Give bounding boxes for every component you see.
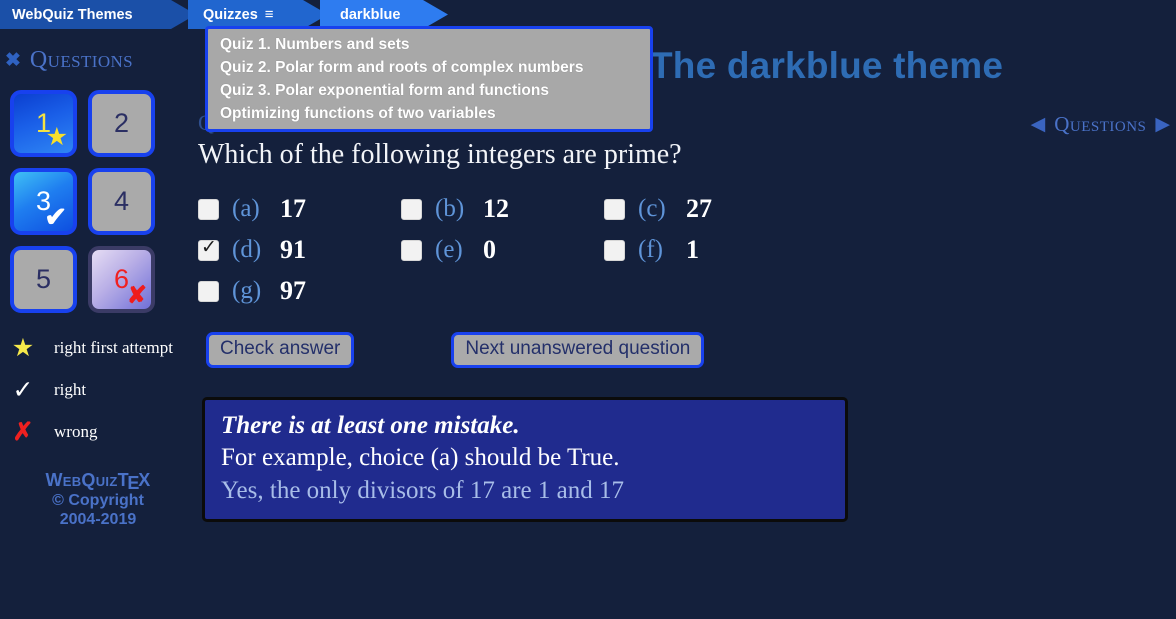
quiz-page: WebQuiz Themes Quizzes ≡ darkblue The da… (0, 0, 1176, 619)
legend-label: right (54, 377, 86, 400)
breadcrumb-label: Quizzes (203, 7, 258, 23)
choice-e[interactable]: (e) 0 (401, 235, 604, 265)
breadcrumb: WebQuiz Themes Quizzes ≡ darkblue (0, 0, 1176, 29)
choice-value: 91 (280, 235, 306, 265)
choice-b[interactable]: (b) 12 (401, 194, 604, 224)
question-button-number: 2 (114, 108, 129, 139)
cross-icon: ✘ (127, 284, 147, 308)
choice-letter: (e) (435, 236, 483, 264)
choice-letter: (b) (435, 195, 483, 223)
copyright-line: © Copyright (0, 491, 196, 510)
question-button-number: 4 (114, 186, 129, 217)
sidebar-header: ✖ Questions (0, 42, 196, 78)
sidebar: ✖ Questions 1 ★ 2 3 ✔ 4 5 6 ✘ (0, 42, 196, 529)
choice-letter: (a) (232, 195, 280, 223)
choice-value: 97 (280, 276, 306, 306)
questions-navigation: ◀ Questions ▶ (1031, 112, 1170, 137)
quiz-menu-item[interactable]: Quiz 2. Polar form and roots of complex … (208, 56, 650, 79)
choice-value: 27 (686, 194, 712, 224)
choice-letter: (c) (638, 195, 686, 223)
breadcrumb-item-webquiz-themes[interactable]: WebQuiz Themes (0, 0, 196, 29)
checkbox-d[interactable] (198, 240, 219, 261)
answer-choices: (a) 17 (b) 12 (c) 27 (d) 91 (198, 194, 808, 306)
question-button-number: 5 (36, 264, 51, 295)
question-button-grid: 1 ★ 2 3 ✔ 4 5 6 ✘ (10, 90, 170, 313)
choice-g[interactable]: (g) 97 (198, 276, 401, 306)
choice-row: (g) 97 (198, 276, 808, 306)
question-button-4[interactable]: 4 (88, 168, 155, 235)
action-buttons: Check answer Next unanswered question (198, 332, 1176, 368)
feedback-box: There is at least one mistake. For examp… (202, 397, 848, 522)
feedback-explanation: Yes, the only divisors of 17 are 1 and 1… (221, 474, 829, 507)
check-icon: ✔ (44, 204, 67, 231)
choice-value: 17 (280, 194, 306, 224)
legend-label: wrong (54, 419, 97, 442)
brand-tex-x: X (138, 470, 150, 490)
close-icon[interactable]: ✖ (5, 51, 21, 70)
quiz-menu-item[interactable]: Optimizing functions of two variables (208, 102, 650, 125)
quiz-dropdown-menu[interactable]: Quiz 1. Numbers and sets Quiz 2. Polar f… (205, 26, 653, 132)
legend-row-right: ✓ right (8, 377, 193, 403)
breadcrumb-item-quizzes[interactable]: Quizzes ≡ (188, 0, 328, 29)
check-icon: ✓ (8, 377, 38, 403)
question-button-2[interactable]: 2 (88, 90, 155, 157)
main-content: Question 6 Which of the following intege… (198, 110, 1176, 522)
cross-icon: ✗ (8, 419, 38, 445)
choice-letter: (d) (232, 236, 280, 264)
choice-f[interactable]: (f) 1 (604, 235, 807, 265)
previous-question-icon[interactable]: ◀ (1031, 115, 1046, 134)
choice-value: 1 (686, 235, 699, 265)
breadcrumb-label: darkblue (340, 7, 400, 23)
legend: ★ right first attempt ✓ right ✗ wrong (8, 335, 193, 445)
next-question-icon[interactable]: ▶ (1155, 115, 1170, 134)
checkbox-a[interactable] (198, 199, 219, 220)
star-icon: ★ (8, 335, 38, 361)
question-button-1[interactable]: 1 ★ (10, 90, 77, 157)
feedback-heading: There is at least one mistake. (221, 410, 829, 441)
choice-letter: (g) (232, 277, 280, 305)
hamburger-menu-icon[interactable]: ≡ (265, 7, 274, 22)
choice-a[interactable]: (a) 17 (198, 194, 401, 224)
question-button-6[interactable]: 6 ✘ (88, 246, 155, 313)
legend-label: right first attempt (54, 335, 173, 358)
brand-tex-e: E (127, 474, 139, 493)
feedback-detail: For example, choice (a) should be True. (221, 441, 829, 474)
checkbox-f[interactable] (604, 240, 625, 261)
choice-row: (d) 91 (e) 0 (f) 1 (198, 235, 808, 265)
checkbox-c[interactable] (604, 199, 625, 220)
checkbox-g[interactable] (198, 281, 219, 302)
sidebar-heading: Questions (30, 47, 133, 74)
choice-value: 12 (483, 194, 509, 224)
question-button-5[interactable]: 5 (10, 246, 77, 313)
checkbox-b[interactable] (401, 199, 422, 220)
choice-value: 0 (483, 235, 496, 265)
choice-d[interactable]: (d) 91 (198, 235, 401, 265)
breadcrumb-item-darkblue[interactable]: darkblue (320, 0, 448, 29)
question-text: Which of the following integers are prim… (198, 138, 1176, 172)
choice-c[interactable]: (c) 27 (604, 194, 807, 224)
legend-row-right-first-attempt: ★ right first attempt (8, 335, 193, 361)
questions-nav-label: Questions (1054, 112, 1146, 137)
choice-letter: (f) (638, 236, 686, 264)
breadcrumb-label: WebQuiz Themes (12, 7, 133, 23)
brand-name: WebQuiz (45, 470, 117, 490)
copyright-years: 2004-2019 (0, 510, 196, 529)
legend-row-wrong: ✗ wrong (8, 419, 193, 445)
next-unanswered-question-button[interactable]: Next unanswered question (451, 332, 704, 368)
check-answer-button[interactable]: Check answer (206, 332, 354, 368)
page-title: The darkblue theme (650, 45, 1003, 87)
checkbox-e[interactable] (401, 240, 422, 261)
copyright-block: WebQuizTEX © Copyright 2004-2019 (0, 471, 196, 529)
choice-row: (a) 17 (b) 12 (c) 27 (198, 194, 808, 224)
question-button-3[interactable]: 3 ✔ (10, 168, 77, 235)
brand-logo: WebQuizTEX (0, 471, 196, 491)
quiz-menu-item[interactable]: Quiz 3. Polar exponential form and funct… (208, 79, 650, 102)
star-icon: ★ (46, 125, 68, 150)
quiz-menu-item[interactable]: Quiz 1. Numbers and sets (208, 33, 650, 56)
